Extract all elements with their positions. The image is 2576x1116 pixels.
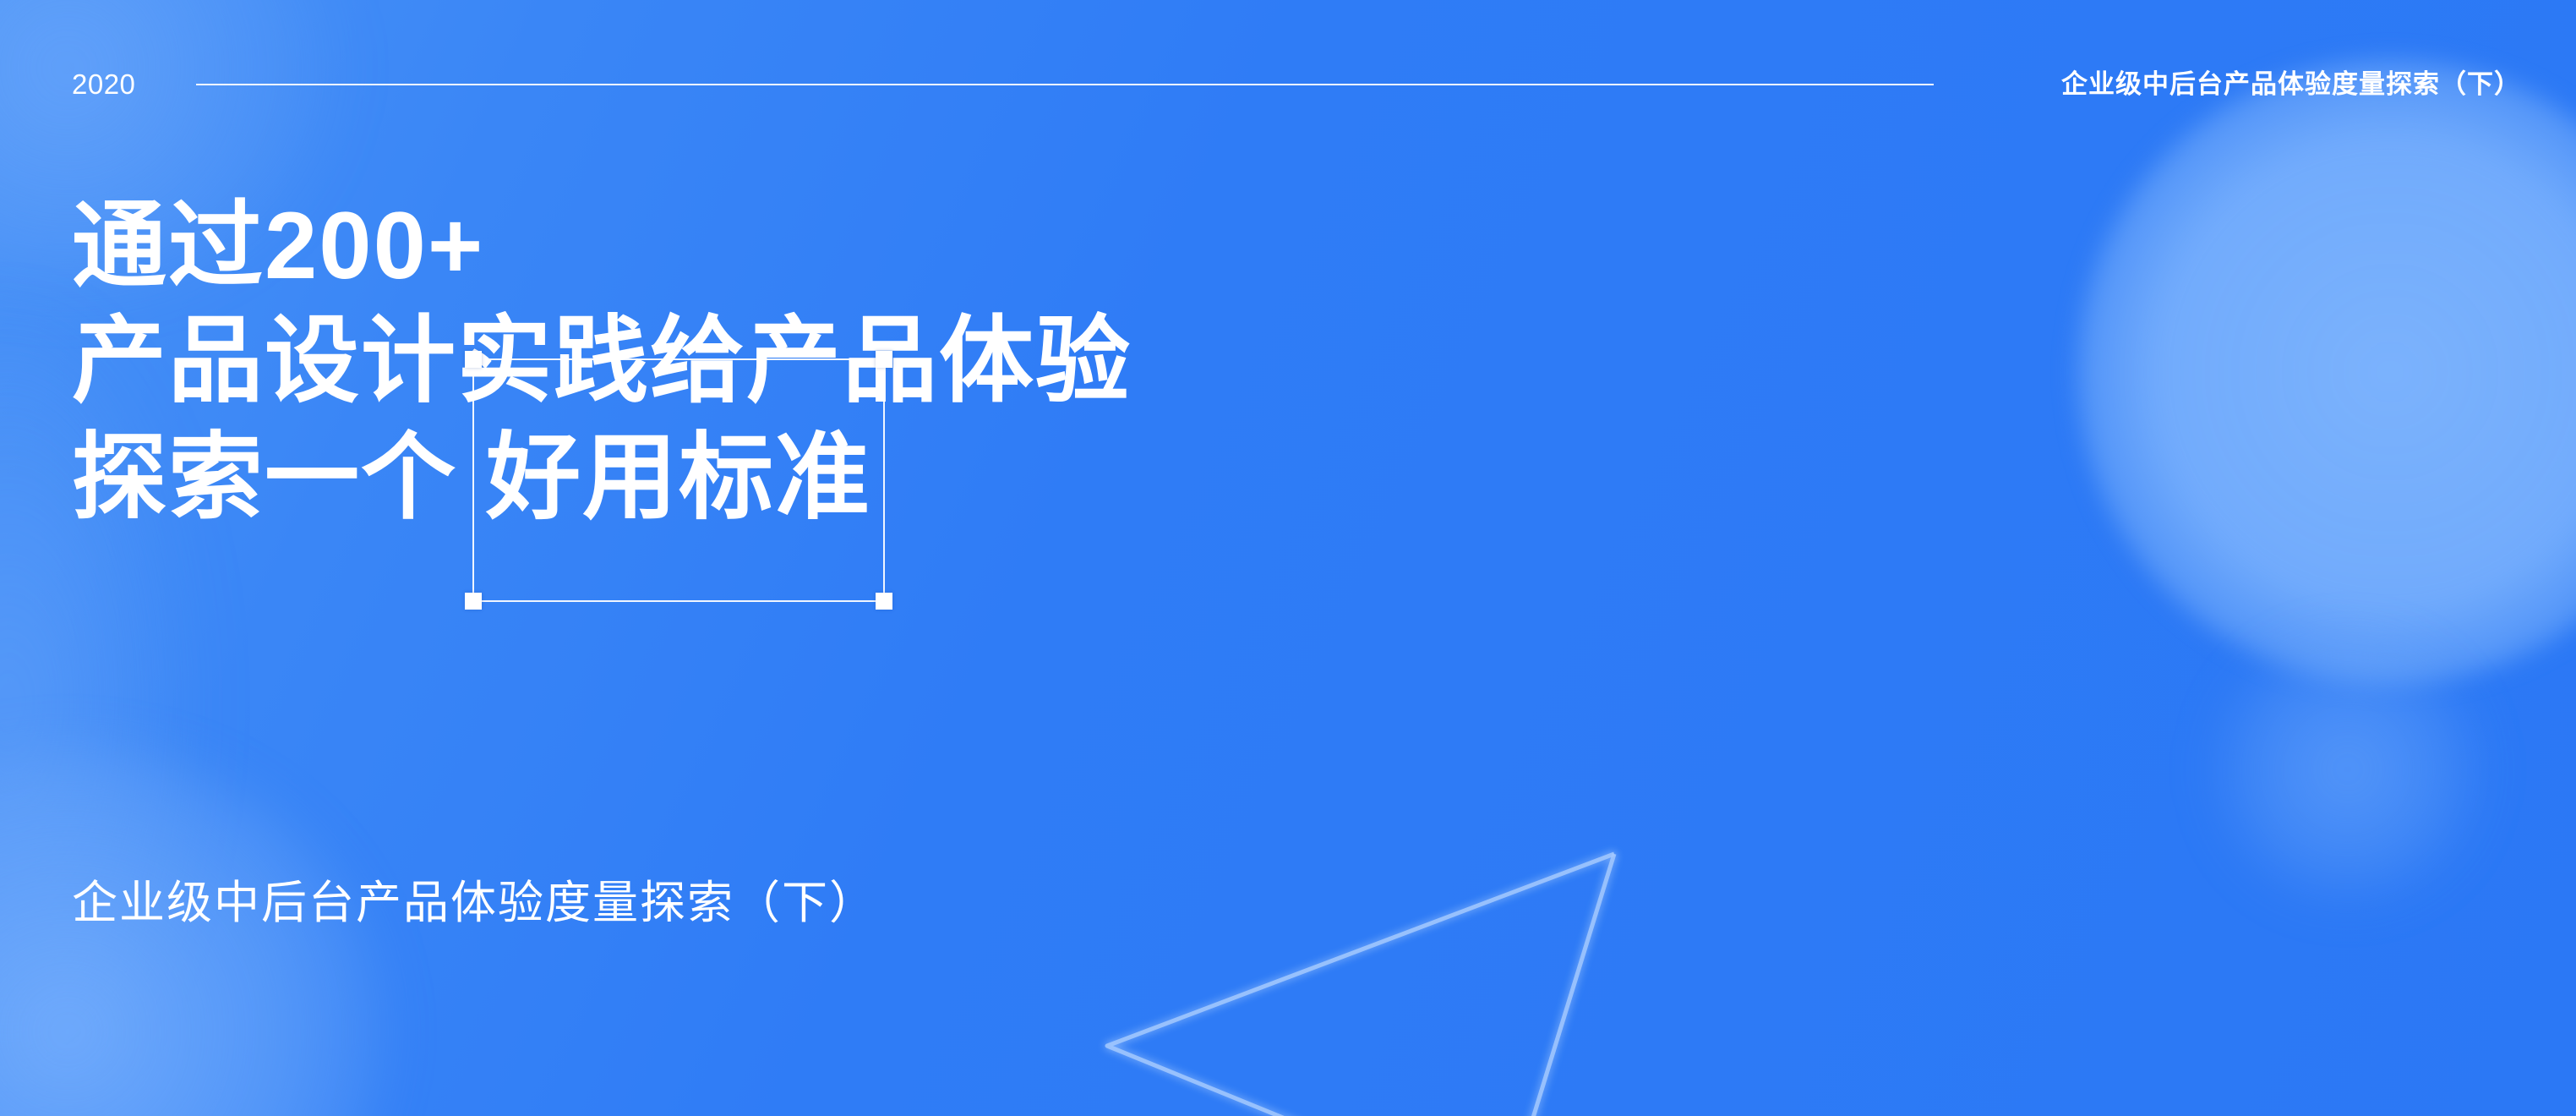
slide-canvas: 2020 企业级中后台产品体验度量探索（下） 通过200+ 产品设计实践给产品体… — [0, 0, 2576, 1116]
selection-handle-bottom-right[interactable] — [876, 593, 892, 610]
header-year: 2020 — [72, 61, 135, 108]
triangle-decoration — [1056, 824, 1665, 1116]
circle-right-decoration — [2077, 59, 2576, 685]
headline-line-2: 产品设计实践给产品体验 — [72, 311, 1132, 411]
headline-line-3-prefix: 探索一个 — [72, 428, 457, 528]
header-divider-rule — [196, 84, 1934, 85]
headline-line-1: 通过200+ — [72, 196, 1132, 296]
highlighted-phrase-group[interactable]: 好用标准 — [472, 428, 885, 528]
header-title: 企业级中后台产品体验度量探索（下） — [2061, 61, 2521, 108]
slide-header: 2020 企业级中后台产品体验度量探索（下） — [0, 61, 2576, 108]
slide-subtitle: 企业级中后台产品体验度量探索（下） — [72, 875, 876, 931]
highlighted-phrase-text: 好用标准 — [486, 428, 871, 528]
headline-line-3: 探索一个 好用标准 — [72, 428, 1132, 528]
selection-handle-bottom-left[interactable] — [465, 593, 482, 610]
circle-right-small-decoration — [2221, 643, 2475, 896]
page-title: 通过200+ 产品设计实践给产品体验 探索一个 好用标准 — [72, 196, 1132, 528]
